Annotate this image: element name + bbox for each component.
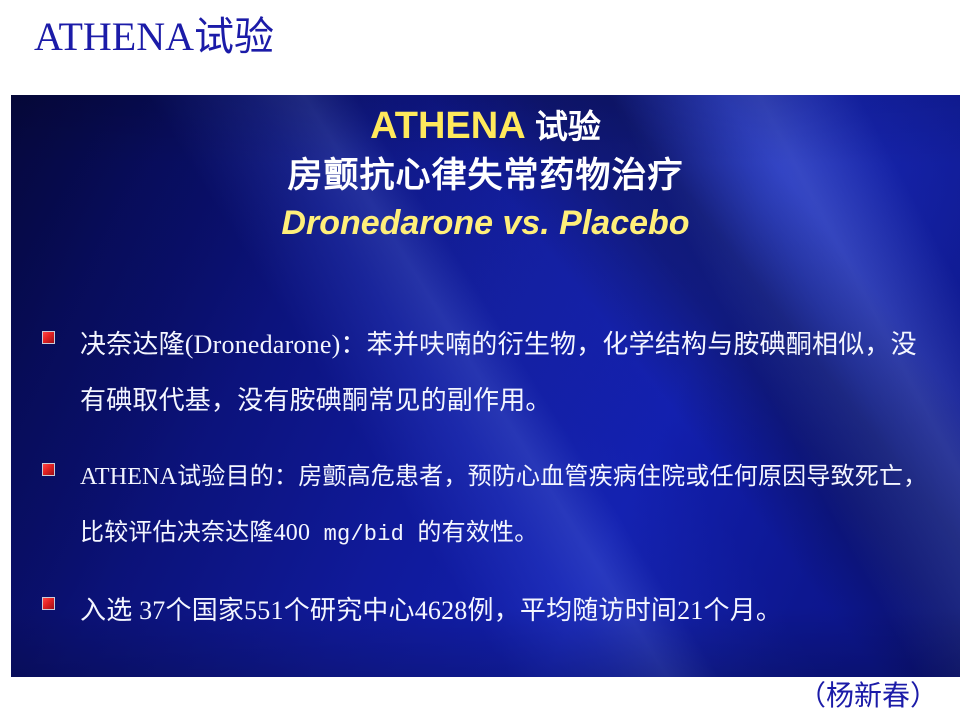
bullet-text-2: ATHENA试验目的：房颤高危患者，预防心血管疾病住院或任何原因导致死亡，比较评… <box>80 464 927 546</box>
list-item: ATHENA试验目的：房颤高危患者，预防心血管疾病住院或任何原因导致死亡，比较评… <box>37 449 942 563</box>
red-square-bullet-icon <box>42 463 55 476</box>
red-square-bullet-icon <box>42 331 55 344</box>
bullet-text-2-part-2: 的有效性。 <box>417 520 538 546</box>
slide-heading-line-1: ATHENA 试验 <box>11 101 960 152</box>
bullet-list: 决奈达隆(Dronedarone)：苯并呋喃的衍生物，化学结构与胺碘酮相似，没有… <box>37 317 942 639</box>
slide-heading-line-3: Dronedarone vs. Placebo <box>11 200 960 246</box>
red-square-bullet-icon <box>42 597 55 610</box>
slide-heading-trial-name: ATHENA <box>370 105 524 147</box>
list-item: 决奈达隆(Dronedarone)：苯并呋喃的衍生物，化学结构与胺碘酮相似，没有… <box>37 317 942 429</box>
bullet-text-1: 决奈达隆(Dronedarone)：苯并呋喃的衍生物，化学结构与胺碘酮相似，没有… <box>80 330 917 415</box>
slide-heading-trial-name-cn: 试验 <box>535 108 601 145</box>
bullet-text-2-dose: mg/bid <box>310 522 417 547</box>
slide-heading-line-2: 房颤抗心律失常药物治疗 <box>11 152 960 200</box>
page-title: ATHENA试验 <box>34 14 274 60</box>
slide-panel: ATHENA 试验 房颤抗心律失常药物治疗 Dronedarone vs. Pl… <box>11 95 960 677</box>
list-item: 入选 37个国家551个研究中心4628例，平均随访时间21个月。 <box>37 583 942 639</box>
slide-heading: ATHENA 试验 房颤抗心律失常药物治疗 Dronedarone vs. Pl… <box>11 101 960 246</box>
author-credit: （杨新春） <box>798 678 938 716</box>
bullet-text-3: 入选 37个国家551个研究中心4628例，平均随访时间21个月。 <box>80 596 782 625</box>
